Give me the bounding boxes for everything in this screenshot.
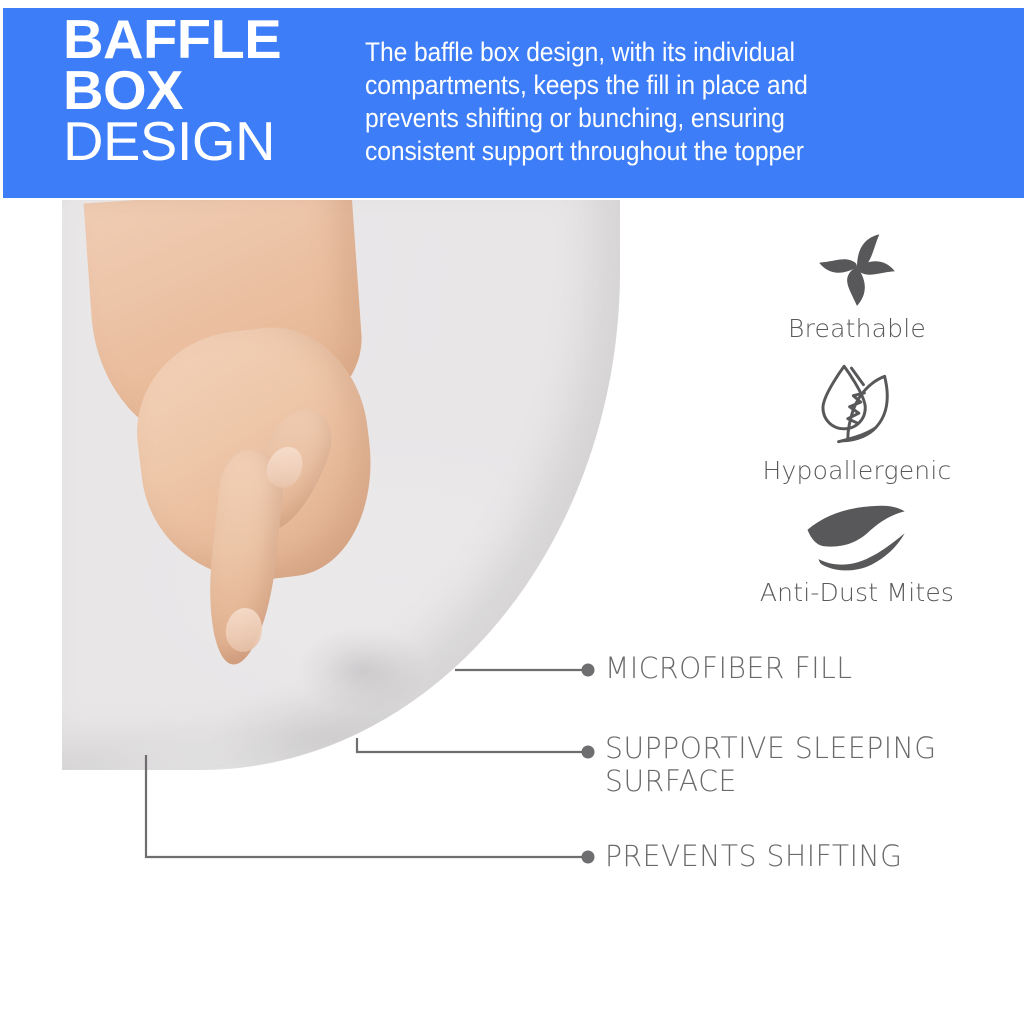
header-banner: BAFFLE BOX DESIGN The baffle box design,… bbox=[3, 8, 1024, 198]
banner-description-line-3: prevents shifting or bunching, ensuring bbox=[365, 102, 942, 135]
banner-title-line-2: BOX bbox=[63, 65, 338, 116]
product-photo bbox=[62, 200, 620, 770]
layered-fabric-icon bbox=[802, 502, 912, 574]
banner-title: BAFFLE BOX DESIGN bbox=[63, 14, 333, 167]
banner-title-line-1: BAFFLE bbox=[63, 14, 338, 65]
infographic-canvas: BAFFLE BOX DESIGN The baffle box design,… bbox=[0, 0, 1024, 1024]
banner-title-line-3: DESIGN bbox=[63, 116, 338, 167]
banner-description: The baffle box design, with its individu… bbox=[365, 36, 942, 167]
pinwheel-airflow-icon bbox=[814, 224, 900, 310]
feature-antidust-label: Anti-Dust Mites bbox=[690, 578, 1024, 607]
droplet-feather-icon bbox=[811, 354, 903, 454]
feature-breathable: Breathable bbox=[690, 224, 1024, 354]
leader-dot-prevents bbox=[582, 851, 595, 864]
banner-description-line-4: consistent support throughout the topper bbox=[365, 135, 942, 168]
callout-label-microfiber-fill: MICROFIBER FILL bbox=[605, 652, 853, 685]
feature-list: Breathable Hypoallergenic bbox=[690, 224, 1024, 622]
banner-description-line-2: compartments, keeps the fill in place an… bbox=[365, 69, 942, 102]
feature-hypoallergenic: Hypoallergenic bbox=[690, 354, 1024, 502]
feature-breathable-label: Breathable bbox=[690, 314, 1024, 343]
feature-antidust: Anti-Dust Mites bbox=[690, 502, 1024, 622]
callout-label-prevents-shifting: PREVENTS SHIFTING bbox=[605, 840, 903, 873]
leader-line-prevents bbox=[146, 755, 583, 857]
banner-description-line-1: The baffle box design, with its individu… bbox=[365, 36, 942, 69]
feature-hypoallergenic-label: Hypoallergenic bbox=[690, 456, 1024, 485]
callout-label-supportive-sleeping-surface: SUPPORTIVE SLEEPING SURFACE bbox=[605, 732, 937, 799]
